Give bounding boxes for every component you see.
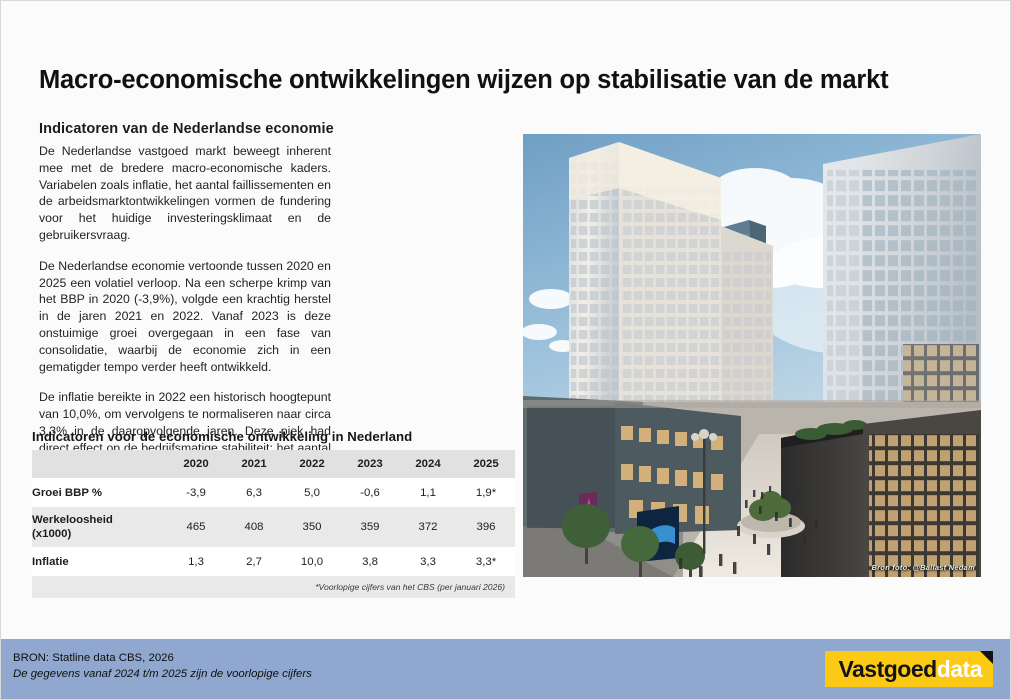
table-cell: 396 <box>457 507 515 547</box>
logo-text-vastgoed: Vastgoed <box>838 658 936 681</box>
footer-source-line: BRON: Statline data CBS, 2026 <box>13 651 312 667</box>
table-cell: 465 <box>167 507 225 547</box>
table-cell: 3,3 <box>399 547 457 576</box>
table-cell: 372 <box>399 507 457 547</box>
table-column-header: 2025 <box>457 450 515 478</box>
table-row: Groei BBP % -3,9 6,3 5,0 -0,6 1,1 1,9* <box>32 478 515 507</box>
row-label: Inflatie <box>32 547 167 576</box>
table-column-header: 2024 <box>399 450 457 478</box>
row-label: Werkeloosheid(x1000) <box>32 507 167 547</box>
table-caption: Indicatoren voor de economische ontwikke… <box>32 429 515 444</box>
logo-text-data: data <box>937 658 982 681</box>
photo-credit: Bron foto: @Ballast Nedam <box>871 563 975 572</box>
table-cell: 3,8 <box>341 547 399 576</box>
table-header-row: 2020 2021 2022 2023 2024 2025 <box>32 450 515 478</box>
paragraph-1: De Nederlandse vastgoed markt beweegt in… <box>39 143 331 244</box>
table-cell: 1,9* <box>457 478 515 507</box>
paragraph-2: De Nederlandse economie vertoonde tussen… <box>39 258 331 376</box>
table-footnote-row: *Voorlopige cijfers van het CBS (per jan… <box>32 576 515 598</box>
table-row: Werkeloosheid(x1000) 465 408 350 359 372… <box>32 507 515 547</box>
table-cell: 350 <box>283 507 341 547</box>
table-corner-cell <box>32 450 167 478</box>
table-cell: 1,3 <box>167 547 225 576</box>
table-cell: -0,6 <box>341 478 399 507</box>
presentation-slide: Macro-economische ontwikkelingen wijzen … <box>0 0 1011 700</box>
table-cell: 10,0 <box>283 547 341 576</box>
table-column-header: 2022 <box>283 450 341 478</box>
hero-photo: Bron foto: @Ballast Nedam <box>523 134 981 577</box>
table-cell: -3,9 <box>167 478 225 507</box>
table-cell: 359 <box>341 507 399 547</box>
table-cell: 6,3 <box>225 478 283 507</box>
table-row: Inflatie 1,3 2,7 10,0 3,8 3,3 3,3* <box>32 547 515 576</box>
building-render-illustration <box>523 134 981 577</box>
table-cell: 408 <box>225 507 283 547</box>
table-column-header: 2023 <box>341 450 399 478</box>
table-cell: 5,0 <box>283 478 341 507</box>
footer-note-line: De gegevens vanaf 2024 t/m 2025 zijn de … <box>13 667 312 683</box>
page-title: Macro-economische ontwikkelingen wijzen … <box>39 66 969 95</box>
footer-source-text: BRON: Statline data CBS, 2026 De gegeven… <box>13 651 312 682</box>
logo-fold-corner-icon <box>980 651 993 664</box>
row-label: Groei BBP % <box>32 478 167 507</box>
vastgoeddata-logo[interactable]: Vastgoeddata <box>825 651 993 687</box>
table-cell: 1,1 <box>399 478 457 507</box>
footer-band: BRON: Statline data CBS, 2026 De gegeven… <box>1 639 1010 699</box>
table-cell: 3,3* <box>457 547 515 576</box>
section-heading: Indicatoren van de Nederlandse economie <box>39 121 334 137</box>
row-label-line-2: (x1000) <box>32 528 71 540</box>
table-cell: 2,7 <box>225 547 283 576</box>
table-footnote: *Voorlopige cijfers van het CBS (per jan… <box>32 576 515 598</box>
table-column-header: 2021 <box>225 450 283 478</box>
indicators-table-block: Indicatoren voor de economische ontwikke… <box>32 429 515 598</box>
table-column-header: 2020 <box>167 450 225 478</box>
indicators-table: 2020 2021 2022 2023 2024 2025 Groei BBP … <box>32 450 515 598</box>
row-label-line-1: Werkeloosheid <box>32 514 113 526</box>
